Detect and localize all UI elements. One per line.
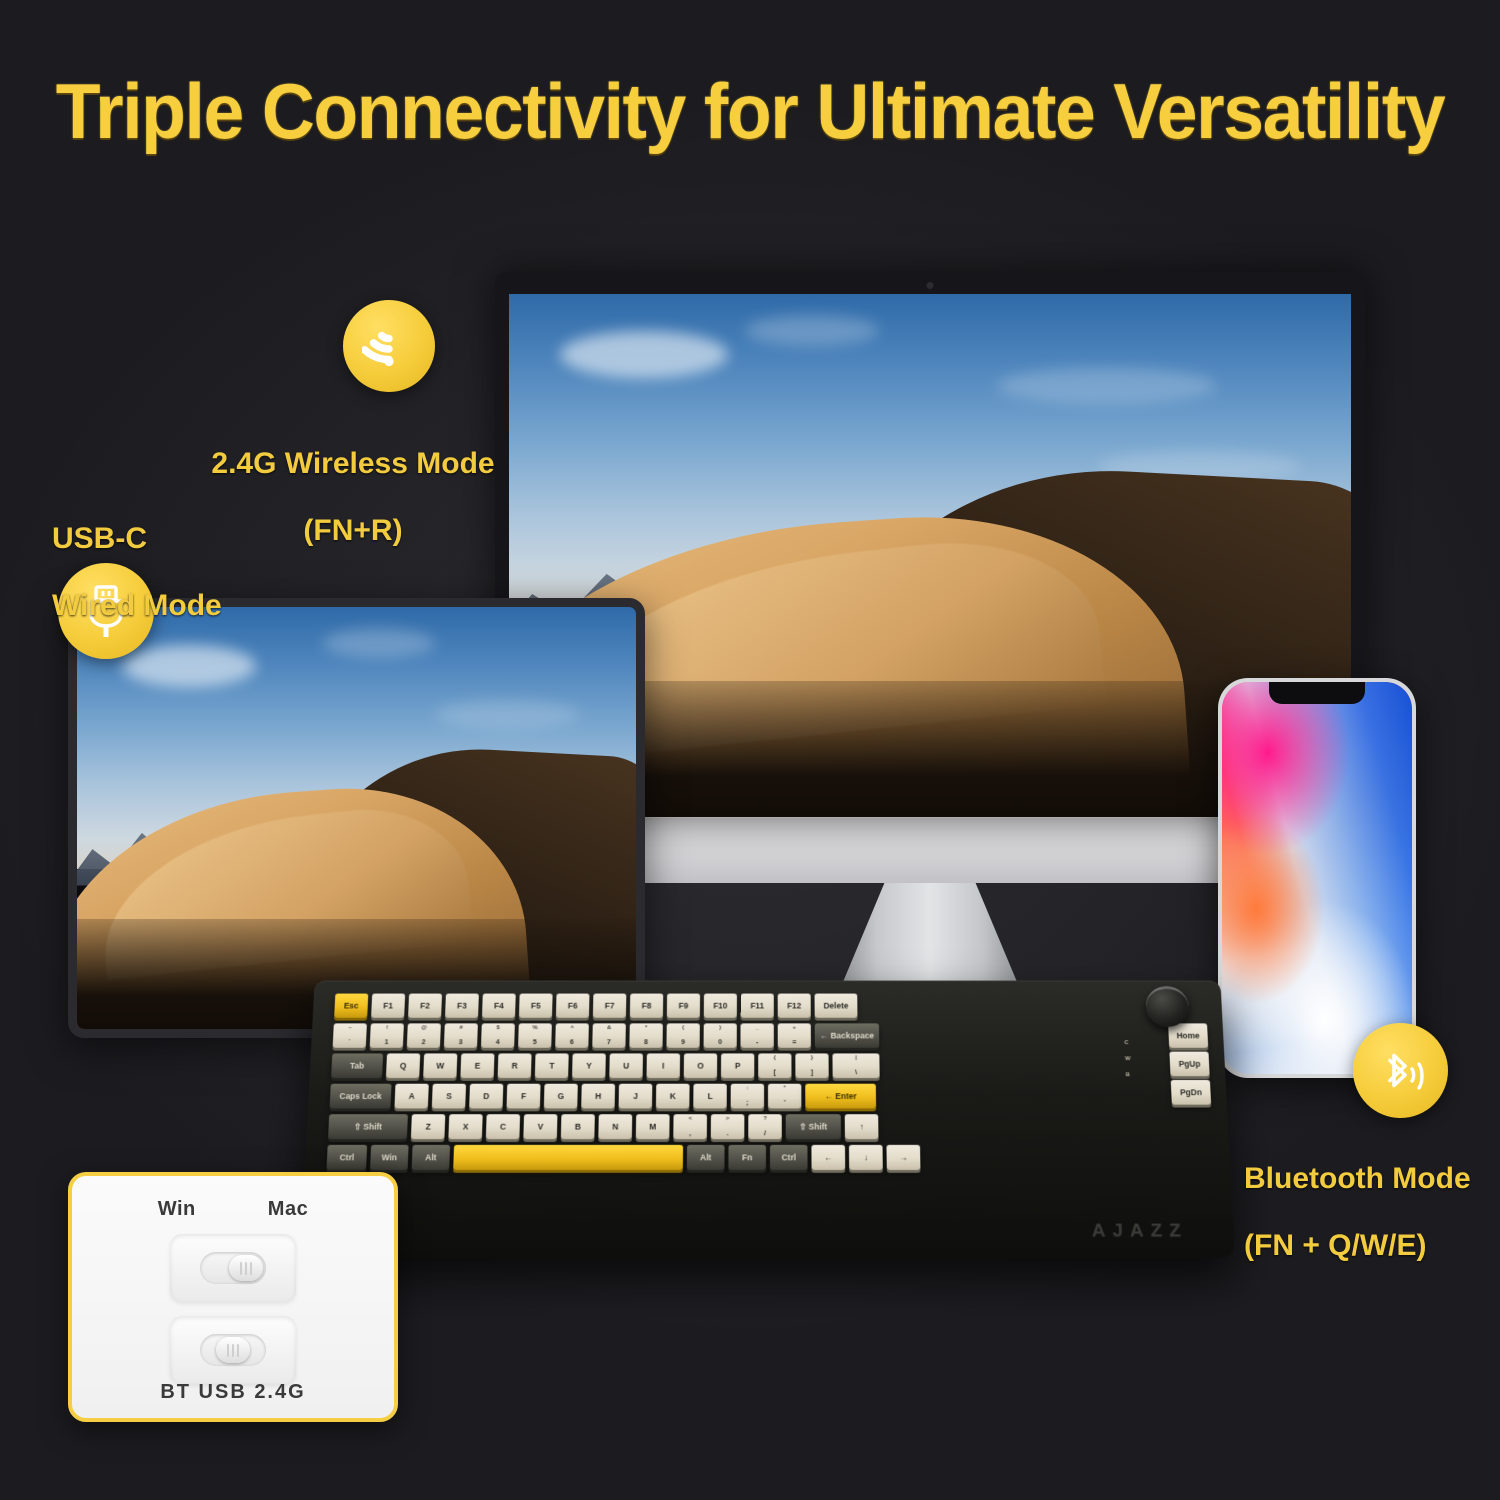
key-spacebar[interactable]: ~` (333, 1023, 367, 1047)
key-legend-shifted: < (673, 1116, 707, 1122)
key-legend-shifted: } (795, 1055, 828, 1061)
key-legend-primary: 2 (407, 1039, 440, 1046)
key-win[interactable]: Win (370, 1145, 409, 1170)
key-legend-shifted: * (630, 1025, 663, 1031)
key-g[interactable]: G (544, 1084, 578, 1109)
key-8[interactable]: *8 (629, 1023, 662, 1047)
iphone-smartphone (1218, 678, 1416, 1078)
led-indicator-b: B (1126, 1072, 1132, 1078)
bluetooth-mode-label-line2: (FN + Q/W/E) (1244, 1229, 1471, 1263)
connection-switch-nub[interactable] (216, 1337, 250, 1363)
key-f7[interactable]: F7 (593, 994, 626, 1018)
key-spacebar[interactable]: ↓ (849, 1145, 883, 1170)
key-spacebar[interactable]: }] (795, 1053, 828, 1078)
key-r[interactable]: R (498, 1053, 532, 1078)
os-label-mac: Mac (268, 1198, 308, 1221)
bluetooth-icon (1353, 1023, 1448, 1118)
key-key[interactable] (453, 1145, 683, 1170)
key-legend-primary: . (711, 1130, 745, 1137)
key-k[interactable]: K (656, 1084, 690, 1109)
key-7[interactable]: &7 (592, 1023, 626, 1047)
key-legend-primary: [ (758, 1069, 791, 1076)
usbc-mode-caption: USB-C Wired Mode (52, 488, 222, 656)
keyboard-brand-logo: AJAZZ (1091, 1221, 1188, 1243)
key-legend-shifted: $ (482, 1025, 515, 1031)
key-e[interactable]: E (460, 1053, 494, 1078)
key-w[interactable]: W (423, 1053, 457, 1078)
key-ctrl[interactable]: Ctrl (770, 1145, 808, 1170)
key-s[interactable]: S (432, 1084, 466, 1109)
key-d[interactable]: D (469, 1084, 503, 1109)
key-legend-shifted: _ (741, 1025, 774, 1031)
key-backspace[interactable]: ← Backspace (815, 1023, 880, 1047)
key-t[interactable]: T (535, 1053, 569, 1078)
key-q[interactable]: Q (386, 1053, 420, 1078)
key-caps-lock[interactable]: Caps Lock (330, 1084, 392, 1109)
key-9[interactable]: (9 (666, 1023, 699, 1047)
nav-key-cluster: HomePgUpPgDn (1168, 1023, 1211, 1104)
key-legend-shifted: > (711, 1116, 744, 1122)
wallpaper-cloud (997, 367, 1216, 404)
connection-mode-switch[interactable] (170, 1316, 296, 1384)
key-legend-primary: ] (795, 1069, 828, 1076)
key-legend-shifted: ~ (333, 1025, 366, 1031)
mojave-wallpaper (77, 607, 636, 1029)
key-spacebar[interactable]: _- (741, 1023, 774, 1047)
key-spacebar[interactable]: :; (731, 1084, 764, 1109)
key-legend-primary: ' (768, 1100, 801, 1107)
key-pgdn[interactable]: PgDn (1171, 1080, 1211, 1105)
bluetooth-mode-label-line1: Bluetooth Mode (1244, 1162, 1471, 1196)
key-legend-shifted: # (445, 1025, 478, 1031)
key-5[interactable]: %5 (518, 1023, 552, 1047)
key-legend-primary: 8 (629, 1039, 662, 1046)
key-enter[interactable]: ← Enter (805, 1084, 876, 1109)
key-legend-shifted: @ (407, 1025, 440, 1031)
ipad-tablet (68, 598, 645, 1038)
key-tab[interactable]: Tab (331, 1053, 383, 1078)
key-spacebar[interactable]: |\ (832, 1053, 879, 1078)
key-spacebar[interactable]: ↑ (845, 1114, 879, 1139)
key-6[interactable]: ^6 (555, 1023, 589, 1047)
key-legend-primary: ` (333, 1039, 367, 1046)
product-feature-poster: Triple Connectivity for Ultimate Versati… (0, 0, 1500, 1500)
iphone-screen (1222, 682, 1412, 1074)
keyboard-row: Caps LockASDFGHJKL:;"'← Enter (330, 1084, 877, 1109)
key-f4[interactable]: F4 (482, 994, 516, 1018)
key-spacebar[interactable]: += (778, 1023, 811, 1047)
key-f[interactable]: F (506, 1084, 540, 1109)
key-1[interactable]: !1 (370, 1023, 404, 1047)
key-spacebar[interactable]: >. (711, 1114, 745, 1139)
key-spacebar[interactable]: <, (673, 1114, 707, 1139)
os-switch-labels: Win Mac (72, 1198, 394, 1221)
page-title: Triple Connectivity for Ultimate Versati… (45, 72, 1455, 150)
key-l[interactable]: L (693, 1084, 727, 1109)
key-spacebar[interactable]: "' (768, 1084, 801, 1109)
key-legend-primary: - (741, 1039, 774, 1046)
wifi-mode-caption: 2.4G Wireless Mode (FN+R) (203, 413, 503, 581)
key-4[interactable]: $4 (481, 1023, 515, 1047)
keyboard-row: ~`!1@2#3$4%5^6&7*8(9)0_-+=← Backspace (333, 1023, 880, 1047)
key-h[interactable]: H (581, 1084, 615, 1109)
key-legend-primary: 0 (704, 1039, 737, 1046)
key-legend-shifted: ) (704, 1025, 737, 1031)
key-f1[interactable]: F1 (371, 994, 405, 1018)
key-o[interactable]: O (684, 1053, 717, 1078)
iphone-notch (1269, 682, 1365, 704)
key-f9[interactable]: F9 (667, 994, 700, 1018)
key-legend-primary: , (673, 1130, 707, 1137)
key-spacebar[interactable]: {[ (758, 1053, 791, 1078)
os-switch-track (200, 1252, 266, 1284)
key-v[interactable]: V (523, 1114, 557, 1139)
key-legend-primary: ; (731, 1100, 764, 1107)
connection-switch-labels: BT USB 2.4G (72, 1381, 394, 1404)
wallpaper-cloud (323, 628, 435, 658)
key-spacebar[interactable]: ← (811, 1145, 845, 1170)
key-legend-primary: 9 (666, 1039, 699, 1046)
key-f5[interactable]: F5 (519, 994, 553, 1018)
keyboard-row: EscF1F2F3F4F5F6F7F8F9F10F11F12Delete (334, 994, 857, 1018)
os-mode-switch[interactable] (170, 1234, 296, 1302)
key-3[interactable]: #3 (444, 1023, 478, 1047)
wifi-mode-label-line1: 2.4G Wireless Mode (203, 447, 503, 481)
key-2[interactable]: @2 (407, 1023, 441, 1047)
led-indicator-c: C (1124, 1040, 1130, 1046)
key-u[interactable]: U (609, 1053, 643, 1078)
key-legend-shifted: | (832, 1055, 879, 1061)
key-legend-shifted: : (731, 1086, 764, 1092)
key-home[interactable]: Home (1168, 1023, 1208, 1047)
key-fn[interactable]: Fn (728, 1145, 766, 1170)
mode-switch-panel: Win Mac BT USB 2.4G (68, 1172, 398, 1422)
ipad-screen (77, 607, 636, 1029)
key-legend-primary: 3 (444, 1039, 477, 1046)
key-legend-shifted: ^ (556, 1025, 589, 1031)
usbc-mode-label-line2: Wired Mode (52, 589, 222, 623)
key-b[interactable]: B (561, 1114, 595, 1139)
key-j[interactable]: J (619, 1084, 653, 1109)
key-f2[interactable]: F2 (408, 994, 442, 1018)
key-pgup[interactable]: PgUp (1169, 1052, 1209, 1077)
key-y[interactable]: Y (572, 1053, 606, 1078)
key-alt[interactable]: Alt (412, 1145, 451, 1170)
key-legend-shifted: " (768, 1086, 801, 1092)
key-i[interactable]: I (647, 1053, 681, 1078)
key-legend-shifted: % (519, 1025, 552, 1031)
key-legend-primary: = (778, 1039, 811, 1046)
key-legend-shifted: { (758, 1055, 791, 1061)
keyboard-row: CtrlWinAltAltFnCtrl←↓→ (326, 1145, 920, 1170)
key-shift[interactable]: ⇧ Shift (328, 1114, 408, 1139)
key-0[interactable]: )0 (704, 1023, 737, 1047)
key-legend-primary: 1 (370, 1039, 403, 1046)
key-x[interactable]: X (448, 1114, 482, 1139)
os-switch-nub[interactable] (229, 1255, 263, 1281)
key-spacebar[interactable]: → (886, 1145, 920, 1170)
key-alt[interactable]: Alt (687, 1145, 725, 1170)
key-legend-shifted: ? (748, 1116, 781, 1122)
key-n[interactable]: N (598, 1114, 632, 1139)
wallpaper-cloud (560, 331, 728, 378)
key-f3[interactable]: F3 (445, 994, 479, 1018)
key-legend-shifted: ! (370, 1025, 403, 1031)
key-spacebar[interactable]: ?/ (748, 1114, 782, 1139)
key-legend-primary: 5 (518, 1039, 551, 1046)
key-ctrl[interactable]: Ctrl (326, 1145, 367, 1170)
ajazz-mechanical-keyboard: EscF1F2F3F4F5F6F7F8F9F10F11F12Delete~`!1… (300, 981, 1235, 1258)
wifi-mode-label-line2: (FN+R) (203, 514, 503, 548)
key-legend-shifted: & (593, 1025, 626, 1031)
key-c[interactable]: C (486, 1114, 520, 1139)
key-a[interactable]: A (394, 1084, 428, 1109)
key-esc[interactable]: Esc (334, 994, 368, 1018)
key-z[interactable]: Z (411, 1114, 445, 1139)
keyboard-row: TabQWERTYUIOP{[}]|\ (331, 1053, 880, 1078)
key-legend-primary: / (748, 1130, 782, 1137)
os-label-win: Win (158, 1198, 196, 1221)
key-legend-primary: \ (833, 1069, 880, 1076)
keyboard-row: ⇧ ShiftZXCVBNM<,>.?/⇧ Shift↑ (328, 1114, 878, 1139)
key-m[interactable]: M (636, 1114, 670, 1139)
led-indicator-w: W (1125, 1056, 1131, 1062)
key-f8[interactable]: F8 (630, 994, 663, 1018)
imac-webcam-icon (927, 282, 934, 289)
bluetooth-mode-caption: Bluetooth Mode (FN + Q/W/E) (1244, 1128, 1471, 1296)
key-legend-shifted: + (778, 1025, 811, 1031)
wifi-icon (343, 300, 435, 392)
key-legend-primary: 6 (555, 1039, 588, 1046)
key-f11[interactable]: F11 (741, 994, 774, 1018)
key-legend-primary: 4 (481, 1039, 514, 1046)
key-delete[interactable]: Delete (815, 994, 858, 1018)
connection-switch-track (200, 1334, 266, 1366)
keyboard-keys-plate: EscF1F2F3F4F5F6F7F8F9F10F11F12Delete~`!1… (325, 994, 1210, 1196)
key-legend-primary: 7 (592, 1039, 625, 1046)
key-f10[interactable]: F10 (704, 994, 737, 1018)
key-shift[interactable]: ⇧ Shift (786, 1114, 841, 1139)
key-f6[interactable]: F6 (556, 994, 590, 1018)
usbc-mode-label-line1: USB-C (52, 522, 222, 556)
key-p[interactable]: P (721, 1053, 754, 1078)
key-f12[interactable]: F12 (778, 994, 811, 1018)
key-legend-shifted: ( (667, 1025, 700, 1031)
